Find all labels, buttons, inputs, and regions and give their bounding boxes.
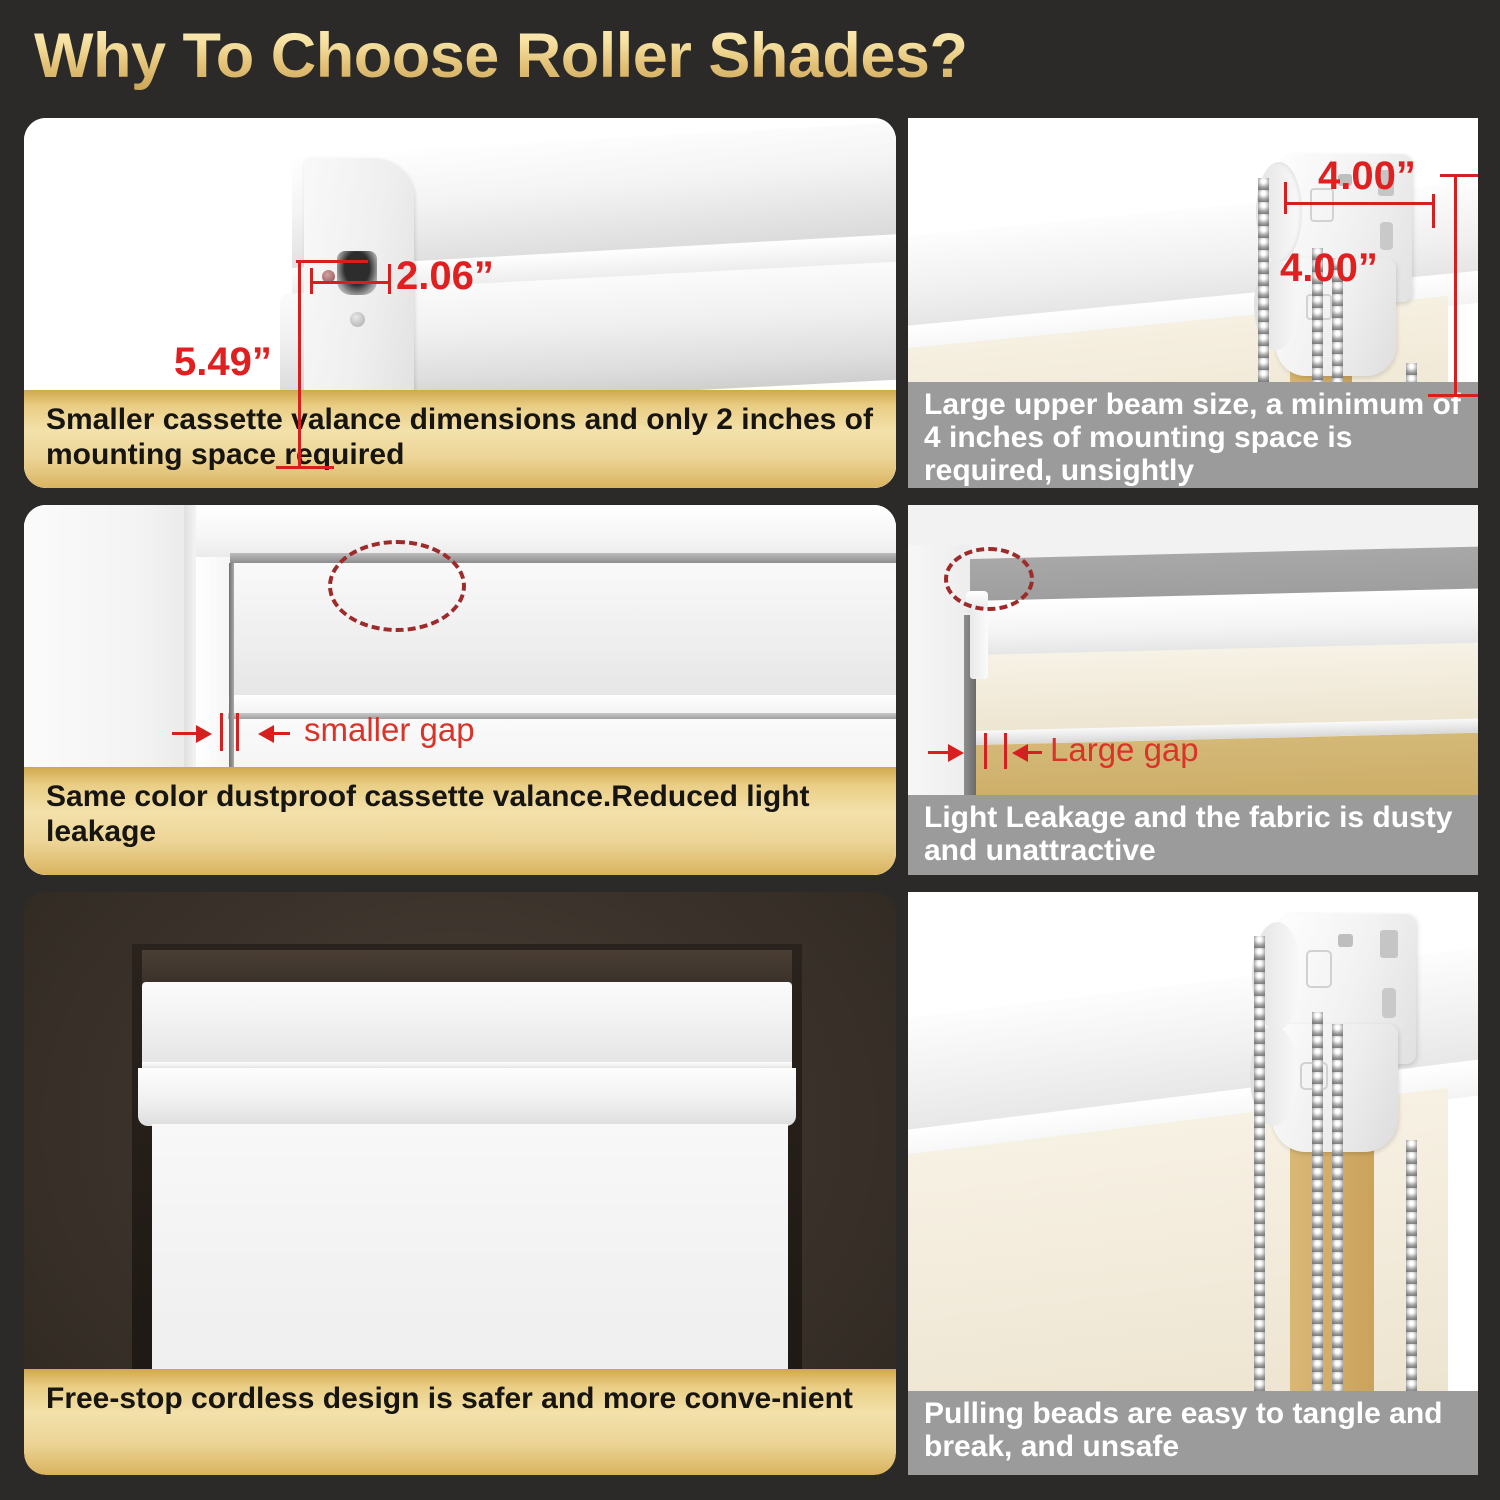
caption-text: Pulling beads are easy to tangle and bre… — [924, 1397, 1462, 1463]
height-dimension-label: 5.49” — [174, 340, 272, 385]
panel-middle-left: smaller gap Same color dustproof cassett… — [24, 505, 896, 875]
caption-text: Large upper beam size, a minimum of 4 in… — [924, 388, 1462, 487]
caption-text: Same color dustproof cassette valance.Re… — [46, 779, 874, 849]
panel-caption-top-left: Smaller cassette valance dimensions and … — [24, 390, 896, 488]
large-gap-label: Large gap — [1050, 731, 1199, 769]
beam-width-line — [1286, 202, 1434, 205]
valance-seam-highlight — [328, 540, 466, 632]
panel-bottom-left: Free-stop cordless design is safer and m… — [24, 892, 896, 1475]
panel-bottom-right: Pulling beads are easy to tangle and bre… — [908, 892, 1478, 1475]
panel-caption-middle-right: Light Leakage and the fabric is dusty an… — [908, 795, 1478, 875]
smaller-gap-label: smaller gap — [304, 711, 475, 749]
panel-caption-middle-left: Same color dustproof cassette valance.Re… — [24, 767, 896, 875]
height-dimension-line — [298, 261, 301, 468]
leak-highlight-circle — [944, 547, 1034, 611]
beam-width-label: 4.00” — [1318, 154, 1416, 199]
width-dimension-label: 2.06” — [396, 254, 494, 299]
panel-caption-top-right: Large upper beam size, a minimum of 4 in… — [908, 382, 1478, 488]
caption-text: Light Leakage and the fabric is dusty an… — [924, 801, 1462, 867]
panel-top-right: 4.00” 4.00” Large upper beam size, a min… — [908, 118, 1478, 488]
panel-top-left: 2.06” 5.49” Smaller cassette valance dim… — [24, 118, 896, 488]
comparison-grid: 2.06” 5.49” Smaller cassette valance dim… — [0, 0, 1500, 1500]
beam-height-line — [1454, 176, 1457, 396]
caption-text: Free-stop cordless design is safer and m… — [46, 1381, 853, 1416]
caption-text: Smaller cassette valance dimensions and … — [46, 402, 874, 472]
panel-caption-bottom-right: Pulling beads are easy to tangle and bre… — [908, 1391, 1478, 1475]
width-dimension-line — [312, 281, 390, 284]
panel-caption-bottom-left: Free-stop cordless design is safer and m… — [24, 1369, 896, 1475]
bead-chain-photo — [908, 892, 1478, 1475]
beam-height-label: 4.00” — [1280, 246, 1378, 291]
panel-middle-right: Large gap Light Leakage and the fabric i… — [908, 505, 1478, 875]
